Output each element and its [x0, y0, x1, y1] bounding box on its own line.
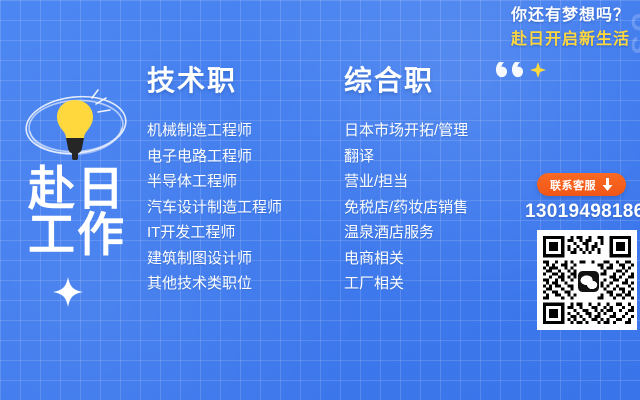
list-item: 电商相关: [344, 246, 468, 272]
page-title-line-1: 赴日: [28, 166, 158, 212]
job-list-general: 日本市场开拓/管理 翻译 营业/担当 免税店/药妆店销售 温泉酒店服务 电商相关…: [344, 118, 468, 297]
list-item: 机械制造工程师: [147, 118, 282, 144]
arrow-down-icon: [602, 178, 613, 191]
job-column-general: 综合职 日本市场开拓/管理 翻译 营业/担当 免税店/药妆店销售 温泉酒店服务 …: [344, 64, 468, 297]
lightbulb-icon: [18, 82, 134, 168]
list-item: 翻译: [344, 144, 468, 170]
job-list-technical: 机械制造工程师 电子电路工程师 半导体工程师 汽车设计制造工程师 IT开发工程师…: [147, 118, 282, 297]
list-item: 日本市场开拓/管理: [344, 118, 468, 144]
headline-line-2: 赴日开启新生活: [511, 30, 630, 50]
job-column-technical: 技术职 机械制造工程师 电子电路工程师 半导体工程师 汽车设计制造工程师 IT开…: [147, 64, 282, 297]
list-item: 其他技术类职位: [147, 271, 282, 297]
column-heading-general: 综合职: [344, 64, 468, 98]
contact-phone-number[interactable]: 13019498186: [525, 201, 637, 223]
list-item: 工厂相关: [344, 271, 468, 297]
column-heading-technical: 技术职: [147, 64, 282, 98]
list-item: 温泉酒店服务: [344, 220, 468, 246]
list-item: 电子电路工程师: [147, 144, 282, 170]
list-item: 营业/担当: [344, 169, 468, 195]
quote-mark-icon: [495, 58, 529, 84]
list-item: 免税店/药妆店销售: [344, 195, 468, 221]
sparkle-white-icon: [52, 276, 84, 308]
contact-support-label: 联系客服: [550, 177, 596, 193]
headline-line-1: 你还有梦想吗？: [511, 6, 630, 26]
page-title: 赴日 工作: [28, 166, 158, 258]
page-title-line-2: 工作: [28, 212, 158, 258]
wechat-qr-code[interactable]: [537, 230, 637, 330]
sparkle-yellow-icon: [530, 62, 546, 78]
list-item: 半导体工程师: [147, 169, 282, 195]
list-item: 建筑制图设计师: [147, 246, 282, 272]
contact-support-button[interactable]: 联系客服: [537, 173, 626, 196]
headline-block: 你还有梦想吗？ 赴日开启新生活: [511, 6, 630, 50]
poster-canvas: JOIN US 你还有梦想吗？ 赴日开启新生活: [0, 0, 640, 400]
list-item: IT开发工程师: [147, 220, 282, 246]
list-item: 汽车设计制造工程师: [147, 195, 282, 221]
